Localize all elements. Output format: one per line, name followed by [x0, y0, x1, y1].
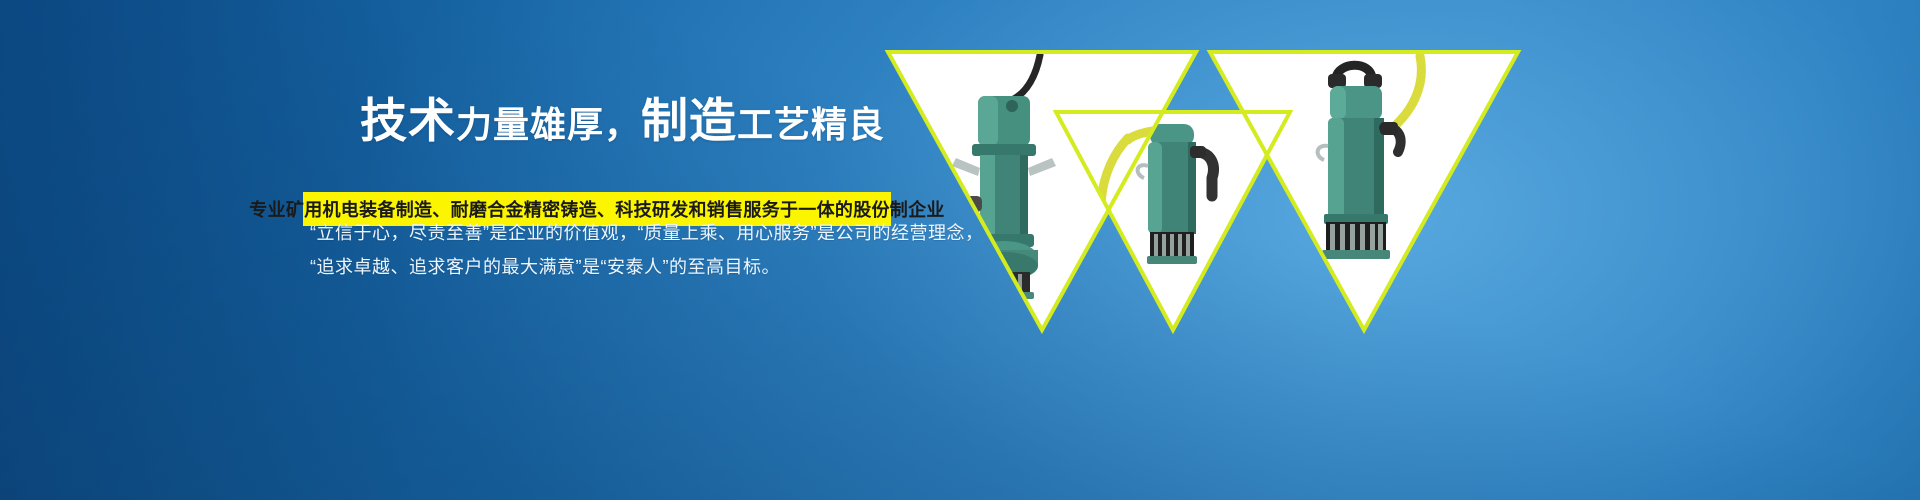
headline-segment-3: 制造: [641, 94, 737, 147]
banner-text-block: 技术力量雄厚，制造工艺精良 专业矿用机电装备制造、耐磨合金精密铸造、科技研发和销…: [0, 0, 930, 500]
banner-body-line-2: “追求卓越、追求客户的最大满意”是“安泰人”的至高目标。: [310, 253, 780, 279]
banner-headline: 技术力量雄厚，制造工艺精良: [360, 97, 885, 144]
promotional-banner: 技术力量雄厚，制造工艺精良 专业矿用机电装备制造、耐磨合金精密铸造、科技研发和销…: [0, 0, 1920, 500]
headline-segment-1: 技术: [360, 94, 456, 147]
headline-segment-2: 力量雄厚，: [456, 104, 641, 145]
triangle-photo-collage: [860, 0, 1920, 500]
collage-svg: [860, 0, 1920, 500]
